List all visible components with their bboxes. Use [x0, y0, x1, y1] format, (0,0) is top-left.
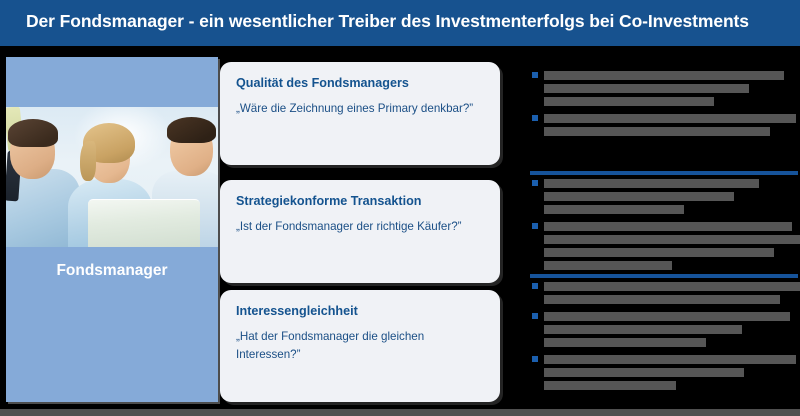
redacted-text-line [544, 325, 742, 334]
card-quote: „Hat der Fondsmanager die gleichen Inter… [236, 328, 478, 364]
bullet-marker-icon [532, 72, 538, 78]
redacted-text-line [544, 71, 784, 80]
card-quote: „Ist der Fondsmanager der richtige Käufe… [236, 218, 478, 236]
redacted-text-line [544, 368, 744, 377]
team-photo [6, 107, 218, 247]
card-qualitaet[interactable]: Qualität des Fondsmanagers „Wäre die Zei… [220, 62, 500, 165]
card-quote: „Wäre die Zeichnung eines Primary denkba… [236, 100, 478, 118]
redacted-text-line [544, 295, 780, 304]
redacted-text-line [544, 261, 672, 270]
fondsmanager-label: Fondsmanager [6, 262, 218, 280]
redacted-text-line [544, 97, 714, 106]
redacted-text-line [544, 312, 790, 321]
card-title: Strategiekonforme Transaktion [236, 194, 488, 208]
redacted-text-line [544, 355, 796, 364]
redacted-group [512, 71, 800, 144]
photo-person-left-hair [8, 119, 58, 147]
slide-canvas: Der Fondsmanager - ein wesentlicher Trei… [0, 0, 800, 416]
bullet-marker-icon [532, 115, 538, 121]
redacted-text-line [544, 205, 684, 214]
card-strategiekonforme-transaktion[interactable]: Strategiekonforme Transaktion „Ist der F… [220, 180, 500, 283]
bullet-marker-icon [532, 223, 538, 229]
photo-person-right-hair [167, 117, 216, 143]
bullet-marker-icon [532, 283, 538, 289]
photo-laptop [88, 199, 200, 247]
page-title: Der Fondsmanager - ein wesentlicher Trei… [26, 11, 786, 32]
bullet-marker-icon [532, 313, 538, 319]
card-title: Interessengleichheit [236, 304, 488, 318]
card-interessengleichheit[interactable]: Interessengleichheit „Hat der Fondsmanag… [220, 290, 500, 402]
card-title: Qualität des Fondsmanagers [236, 76, 488, 90]
group-divider [530, 171, 798, 175]
redacted-group [512, 179, 800, 278]
photo-person-center-hair-side [80, 141, 96, 181]
redacted-text-line [544, 127, 770, 136]
redacted-text-line [544, 222, 792, 231]
redacted-text-line [544, 179, 759, 188]
bottom-strip [0, 409, 800, 416]
header-bar: Der Fondsmanager - ein wesentlicher Trei… [0, 0, 800, 46]
bullet-marker-icon [532, 180, 538, 186]
redacted-text-line [544, 84, 749, 93]
redacted-text-line [544, 248, 774, 257]
bullet-marker-icon [532, 356, 538, 362]
redacted-text-line [544, 338, 706, 347]
fondsmanager-panel: Fondsmanager [6, 57, 218, 402]
redacted-text-line [544, 114, 796, 123]
redacted-group [512, 282, 800, 398]
redacted-text-line [544, 235, 800, 244]
redacted-text-line [544, 282, 800, 291]
redacted-text-line [544, 192, 734, 201]
redacted-notes-column [512, 57, 800, 402]
redacted-text-line [544, 381, 676, 390]
group-divider [530, 274, 798, 278]
